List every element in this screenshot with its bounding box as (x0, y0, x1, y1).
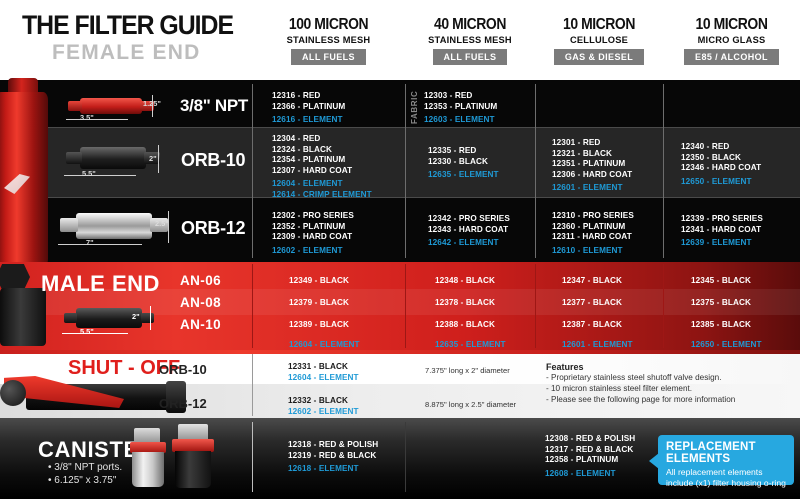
part-number-element: 12635 - ELEMENT (428, 170, 499, 181)
part-number-element: 12602 - ELEMENT (272, 246, 354, 257)
filter-body (76, 213, 152, 239)
header: THE FILTER GUIDE FEMALE END 100 MICRON S… (0, 0, 800, 80)
male-label-an08: AN-08 (180, 295, 221, 310)
part-number: 12302 - PRO SERIES (272, 211, 354, 222)
part-number: 12307 - HARD COAT (272, 166, 372, 177)
part-number-element: 12635 - ELEMENT (435, 340, 506, 351)
column-divider (405, 264, 406, 348)
column-header-40-micron: 40 MICRON STAINLESS MESH ALL FUELS (405, 16, 535, 65)
fitting-barrel (0, 288, 46, 346)
filter-end-left (66, 152, 82, 164)
male-label-an10: AN-10 (180, 317, 221, 332)
column-micron-label: 100 MICRON (260, 16, 398, 34)
column-divider (252, 84, 253, 258)
filter-guide-sheet: THE FILTER GUIDE FEMALE END 100 MICRON S… (0, 0, 800, 499)
column-fuel-badge: ALL FUELS (433, 49, 508, 65)
feature-item: - Proprietary stainless steel shutoff va… (546, 372, 735, 383)
part-number-element: 12604 - ELEMENT (288, 373, 359, 384)
row-divider (0, 197, 800, 198)
part-number: 12379 - BLACK (289, 298, 349, 309)
part-number: 12377 - BLACK (562, 298, 622, 309)
column-fuel-badge: E85 / ALCOHOL (684, 49, 779, 65)
part-number: 12321 - BLACK (552, 149, 632, 160)
column-header-10-micron-micro-glass: 10 MICRON MICRO GLASS E85 / ALCOHOL (663, 16, 800, 65)
part-number: 12348 - BLACK (435, 276, 495, 287)
part-number-element: 12618 - ELEMENT (288, 464, 378, 475)
part-number-element: 12616 - ELEMENT (272, 115, 345, 126)
column-fuel-badge: ALL FUELS (291, 49, 366, 65)
callout-body: All replacement elements include (x1) fi… (666, 467, 786, 488)
part-list-orb12-40micron: 12342 - PRO SERIES 12343 - HARD COAT 126… (428, 214, 510, 249)
part-list-orb10-10micron-microglass: 12340 - RED 12350 - BLACK 12346 - HARD C… (681, 142, 761, 187)
red-filter-cylinder-image (0, 78, 52, 263)
dimension-length-orb12: 7" (86, 238, 94, 247)
part-number: 12378 - BLACK (435, 298, 495, 309)
part-number: 12303 - RED (424, 91, 497, 102)
column-divider (252, 352, 253, 416)
dimension-diameter-orb10: 2" (149, 154, 157, 163)
replacement-elements-callout: REPLACEMENT ELEMENTS All replacement ele… (658, 435, 794, 485)
part-number-element: 12639 - ELEMENT (681, 238, 763, 249)
column-micron-label: 40 MICRON (412, 16, 529, 34)
column-divider (663, 264, 664, 348)
part-number: 12306 - HARD COAT (552, 170, 632, 181)
page-title: THE FILTER GUIDE (22, 10, 233, 41)
part-list-orb12-10micron-cellulose: 12310 - PRO SERIES 12360 - PLATINUM 1231… (552, 211, 634, 256)
canister-bullet: • 3/8" NPT ports. (48, 461, 122, 474)
dimension-diameter-orb12: 2.5" (155, 219, 169, 228)
part-list-npt-100micron: 12316 - RED 12366 - PLATINUM 12616 - ELE… (272, 91, 345, 126)
part-number: 12352 - PLATINUM (272, 222, 354, 233)
column-divider (535, 84, 536, 258)
column-media-label: STAINLESS MESH (405, 35, 535, 45)
part-number: 12309 - HARD COAT (272, 232, 354, 243)
feature-item: - Please see the following page for more… (546, 394, 735, 405)
part-number: 12346 - HARD COAT (681, 163, 761, 174)
part-list-canister-100micron: 12318 - RED & POLISH 12319 - RED & BLACK… (288, 440, 378, 475)
part-number-element: 12604 - ELEMENT (272, 179, 372, 190)
filter-end-left (64, 313, 77, 323)
column-media-label: STAINLESS MESH (252, 35, 405, 45)
part-number: 12331 - BLACK (288, 362, 359, 373)
part-list-shutoff-orb10: 12331 - BLACK 12604 - ELEMENT (288, 362, 359, 383)
canister-image-black (168, 424, 224, 490)
row-divider (0, 127, 800, 128)
part-number-element: 12650 - ELEMENT (691, 340, 762, 351)
part-list-orb12-100micron: 12302 - PRO SERIES 12352 - PLATINUM 1230… (272, 211, 354, 256)
callout-title: REPLACEMENT ELEMENTS (666, 441, 786, 465)
dimension-line (158, 145, 159, 173)
part-number: 12308 - RED & POLISH (545, 434, 635, 445)
part-number: 12319 - RED & BLACK (288, 451, 378, 462)
section-heading-male-end: MALE END (41, 271, 160, 297)
filter-body (80, 98, 142, 114)
part-number-element: 12604 - ELEMENT (289, 340, 360, 351)
column-media-label: MICRO GLASS (663, 35, 800, 45)
column-divider (663, 84, 664, 258)
column-fuel-badge: GAS & DIESEL (554, 49, 644, 65)
dimension-line (150, 306, 151, 330)
part-number-element: 12608 - ELEMENT (545, 469, 635, 480)
part-list-canister-10micron: 12308 - RED & POLISH 12317 - RED & BLACK… (545, 434, 635, 479)
filter-end-right (141, 313, 154, 323)
part-number: 12351 - PLATINUM (552, 159, 632, 170)
column-micron-label: 10 MICRON (670, 16, 793, 34)
part-number: 12354 - PLATINUM (272, 155, 372, 166)
part-number: 12360 - PLATINUM (552, 222, 634, 233)
features-block: Features - Proprietary stainless steel s… (546, 362, 735, 405)
valve-pivot (0, 380, 26, 406)
part-number: 12301 - RED (552, 138, 632, 149)
part-number: 12387 - BLACK (562, 320, 622, 331)
part-number-element: 12610 - ELEMENT (552, 246, 634, 257)
column-divider (252, 422, 253, 492)
part-number: 12316 - RED (272, 91, 345, 102)
shutoff-dims-orb10: 7.375" long x 2" diameter (425, 366, 510, 375)
dimension-line (58, 244, 142, 245)
features-title: Features (546, 362, 735, 372)
canister-bullet: • 6.125" x 3.75" (48, 474, 122, 487)
part-number: 12318 - RED & POLISH (288, 440, 378, 451)
part-number: 12343 - HARD COAT (428, 225, 510, 236)
part-number: 12335 - RED (428, 146, 499, 157)
callout-tail (649, 453, 659, 469)
column-divider (405, 422, 406, 492)
part-list-orb10-40micron: 12335 - RED 12330 - BLACK 12635 - ELEMEN… (428, 146, 499, 181)
part-number-element: 12642 - ELEMENT (428, 238, 510, 249)
canister-bullets: • 3/8" NPT ports. • 6.125" x 3.75" (48, 461, 122, 487)
part-number: 12341 - HARD COAT (681, 225, 763, 236)
dimension-length-orb10: 5.5" (82, 169, 96, 178)
part-number: 12330 - BLACK (428, 157, 499, 168)
part-number: 12340 - RED (681, 142, 761, 153)
fabric-side-label: FABRIC (410, 90, 419, 124)
part-number: 12388 - BLACK (435, 320, 495, 331)
part-number-element: 12601 - ELEMENT (562, 340, 633, 351)
part-number: 12342 - PRO SERIES (428, 214, 510, 225)
column-micron-label: 10 MICRON (541, 16, 656, 34)
dimension-length-npt: 3.5" (80, 113, 94, 122)
dimension-line (66, 119, 128, 120)
part-number: 12310 - PRO SERIES (552, 211, 634, 222)
part-number: 12332 - BLACK (288, 396, 359, 407)
part-number: 12358 - PLATINUM (545, 455, 635, 466)
shutoff-dims-orb12: 8.875" long x 2.5" diameter (425, 400, 516, 409)
product-label-orb10: ORB-10 (181, 150, 245, 171)
column-divider (535, 264, 536, 348)
part-number: 12375 - BLACK (691, 298, 751, 309)
part-number-element: 12603 - ELEMENT (424, 115, 497, 126)
part-number: 12311 - HARD COAT (552, 232, 634, 243)
part-number: 12366 - PLATINUM (272, 102, 345, 113)
part-number-element: 12602 - ELEMENT (288, 407, 359, 418)
part-number: 12389 - BLACK (289, 320, 349, 331)
part-number-element: 12614 - CRIMP ELEMENT (272, 190, 372, 201)
part-number: 12345 - BLACK (691, 276, 751, 287)
part-list-orb12-10micron-microglass: 12339 - PRO SERIES 12341 - HARD COAT 126… (681, 214, 763, 249)
product-label-orb12: ORB-12 (181, 218, 245, 239)
column-header-10-micron-cellulose: 10 MICRON CELLULOSE GAS & DIESEL (535, 16, 663, 65)
dimension-diameter-npt: 1.25" (143, 99, 161, 108)
part-list-shutoff-orb12: 12332 - BLACK 12602 - ELEMENT (288, 396, 359, 417)
filter-end-left (60, 218, 78, 232)
feature-item: - 10 micron stainless steel filter eleme… (546, 383, 735, 394)
part-number: 12317 - RED & BLACK (545, 445, 635, 456)
product-label-npt: 3/8" NPT (180, 96, 248, 116)
part-number: 12304 - RED (272, 134, 372, 145)
part-number-element: 12650 - ELEMENT (681, 177, 761, 188)
dimension-line (62, 333, 128, 334)
hex-fitting-icon (0, 264, 30, 290)
dimension-diameter-male: 2" (132, 312, 140, 321)
section-subtitle-female-end: FEMALE END (52, 41, 201, 65)
part-list-npt-40micron: 12303 - RED 12353 - PLATINUM 12603 - ELE… (424, 91, 497, 126)
filter-end-left (68, 101, 82, 111)
column-divider (405, 84, 406, 258)
part-list-orb10-10micron-cellulose: 12301 - RED 12321 - BLACK 12351 - PLATIN… (552, 138, 632, 194)
part-number: 12385 - BLACK (691, 320, 751, 331)
part-number-element: 12601 - ELEMENT (552, 183, 632, 194)
part-number: 12349 - BLACK (289, 276, 349, 287)
shutoff-label-orb12: ORB-12 (159, 396, 207, 411)
column-media-label: CELLULOSE (535, 35, 663, 45)
shutoff-label-orb10: ORB-10 (159, 362, 207, 377)
male-label-an06: AN-06 (180, 273, 221, 288)
canister-bowl (175, 451, 211, 488)
section-rule (0, 350, 800, 354)
part-number: 12353 - PLATINUM (424, 102, 497, 113)
column-divider (252, 264, 253, 348)
part-number: 12347 - BLACK (562, 276, 622, 287)
part-number: 12324 - BLACK (272, 145, 372, 156)
part-number: 12350 - BLACK (681, 153, 761, 164)
part-number: 12339 - PRO SERIES (681, 214, 763, 225)
canister-bowl (132, 452, 164, 487)
dimension-length-male: 5.5" (80, 327, 94, 336)
part-list-orb10-100micron: 12304 - RED 12324 - BLACK 12354 - PLATIN… (272, 134, 372, 201)
filter-body (80, 147, 146, 169)
column-header-100-micron: 100 MICRON STAINLESS MESH ALL FUELS (252, 16, 405, 65)
filter-image-male (62, 306, 158, 330)
dimension-line (64, 175, 136, 176)
